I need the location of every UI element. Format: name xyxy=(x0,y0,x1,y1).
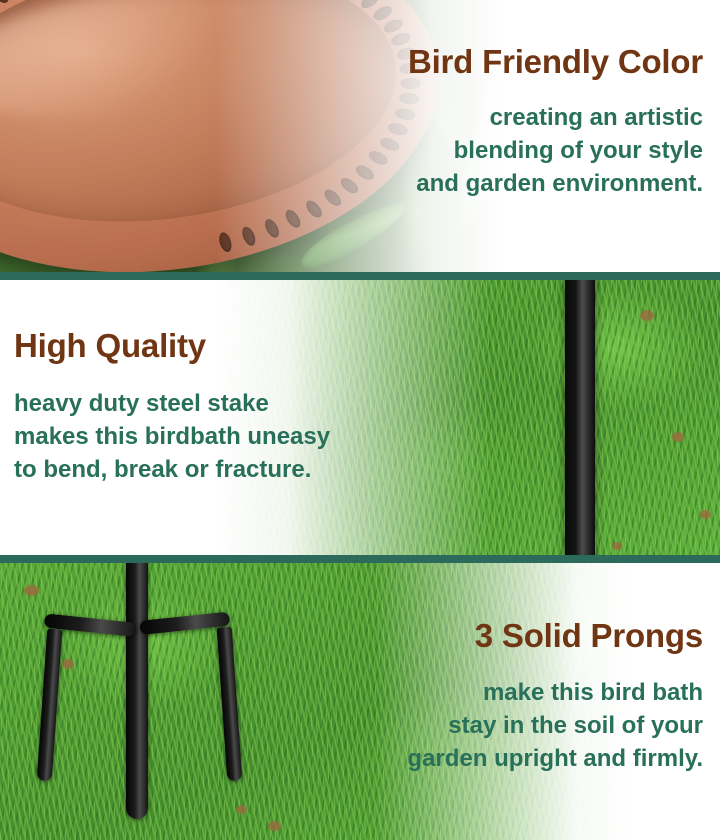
divider-1 xyxy=(0,272,720,280)
body-high-quality: heavy duty steel stake makes this birdba… xyxy=(14,387,330,486)
text-block-high-quality: High Quality heavy duty steel stake make… xyxy=(14,328,330,486)
heading-3-solid-prongs: 3 Solid Prongs xyxy=(407,618,703,655)
body-line: garden upright and firmly. xyxy=(407,742,703,775)
body-line: makes this birdbath uneasy xyxy=(14,420,330,453)
product-infographic: Bird Friendly Color creating an artistic… xyxy=(0,0,720,840)
body-line: stay in the soil of your xyxy=(407,709,703,742)
divider-2 xyxy=(0,555,720,563)
text-block-bird-friendly-color: Bird Friendly Color creating an artistic… xyxy=(408,44,703,200)
body-bird-friendly-color: creating an artistic blending of your st… xyxy=(408,101,703,200)
body-line: creating an artistic xyxy=(408,101,703,134)
steel-stake-rod xyxy=(565,280,595,555)
text-block-3-solid-prongs: 3 Solid Prongs make this bird bath stay … xyxy=(407,618,703,775)
body-line: make this bird bath xyxy=(407,676,703,709)
stake-right-leg xyxy=(217,627,243,782)
body-line: to bend, break or fracture. xyxy=(14,453,330,486)
body-3-solid-prongs: make this bird bath stay in the soil of … xyxy=(407,676,703,775)
stake-left-leg xyxy=(37,629,63,782)
birdbath-bowl xyxy=(0,0,459,272)
body-line: heavy duty steel stake xyxy=(14,387,330,420)
heading-high-quality: High Quality xyxy=(14,328,330,365)
body-line: and garden environment. xyxy=(408,167,703,200)
body-line: blending of your style xyxy=(408,134,703,167)
heading-bird-friendly-color: Bird Friendly Color xyxy=(408,44,703,81)
stake-center-prong xyxy=(126,563,148,819)
